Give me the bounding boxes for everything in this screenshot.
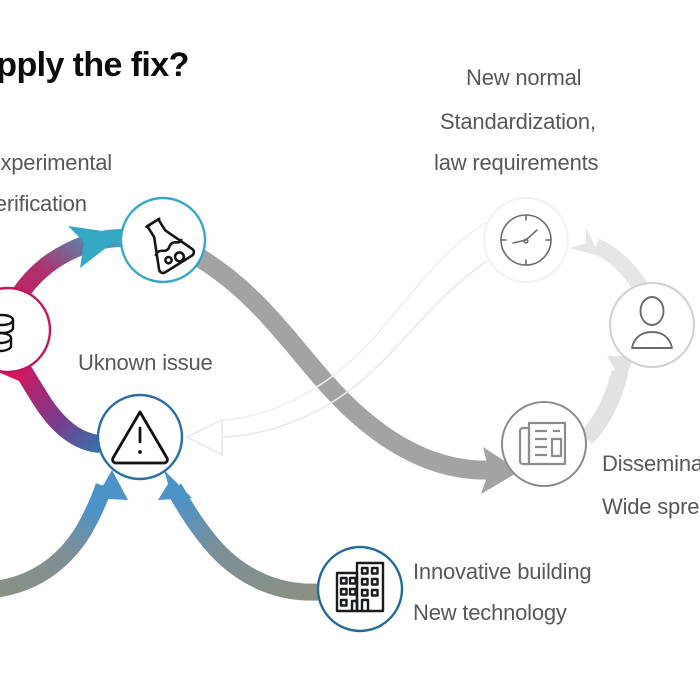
- newspaper-node[interactable]: [502, 402, 586, 486]
- label-dissemination-line1: Dissemina: [602, 453, 700, 475]
- label-experimental-verification-line1: Experimental: [0, 152, 112, 174]
- arrow-newspaper-to-person: [586, 356, 634, 438]
- label-new-normal-line3: law requirements: [434, 152, 598, 174]
- arrow-building-to-warning: [158, 470, 318, 592]
- person-node[interactable]: [610, 283, 694, 367]
- label-new-normal-line1: New normal: [466, 67, 581, 89]
- clock-node[interactable]: [484, 198, 568, 282]
- label-experimental-verification-line2: verification: [0, 193, 87, 215]
- label-dissemination-line2: Wide spre: [602, 496, 699, 518]
- diagram-canvas: apply the fix? Experimental verification…: [0, 0, 700, 700]
- label-new-normal-line2: Standardization,: [440, 111, 596, 133]
- label-innovative-building-line2: New technology: [413, 602, 567, 624]
- arrow-left-to-warning: [0, 470, 128, 590]
- arrow-person-to-clock: [570, 228, 640, 286]
- page-title: apply the fix?: [0, 46, 189, 85]
- flask-node[interactable]: [121, 198, 205, 282]
- arrow-flask-to-newspaper: [200, 258, 520, 494]
- arrow-clock-to-warning: [187, 222, 487, 455]
- label-innovative-building-line1: Innovative building: [413, 561, 591, 583]
- label-unknown-issue: Uknown issue: [78, 352, 213, 374]
- warning-node[interactable]: [98, 395, 182, 479]
- money-node[interactable]: [0, 288, 50, 372]
- building-node[interactable]: [318, 547, 402, 631]
